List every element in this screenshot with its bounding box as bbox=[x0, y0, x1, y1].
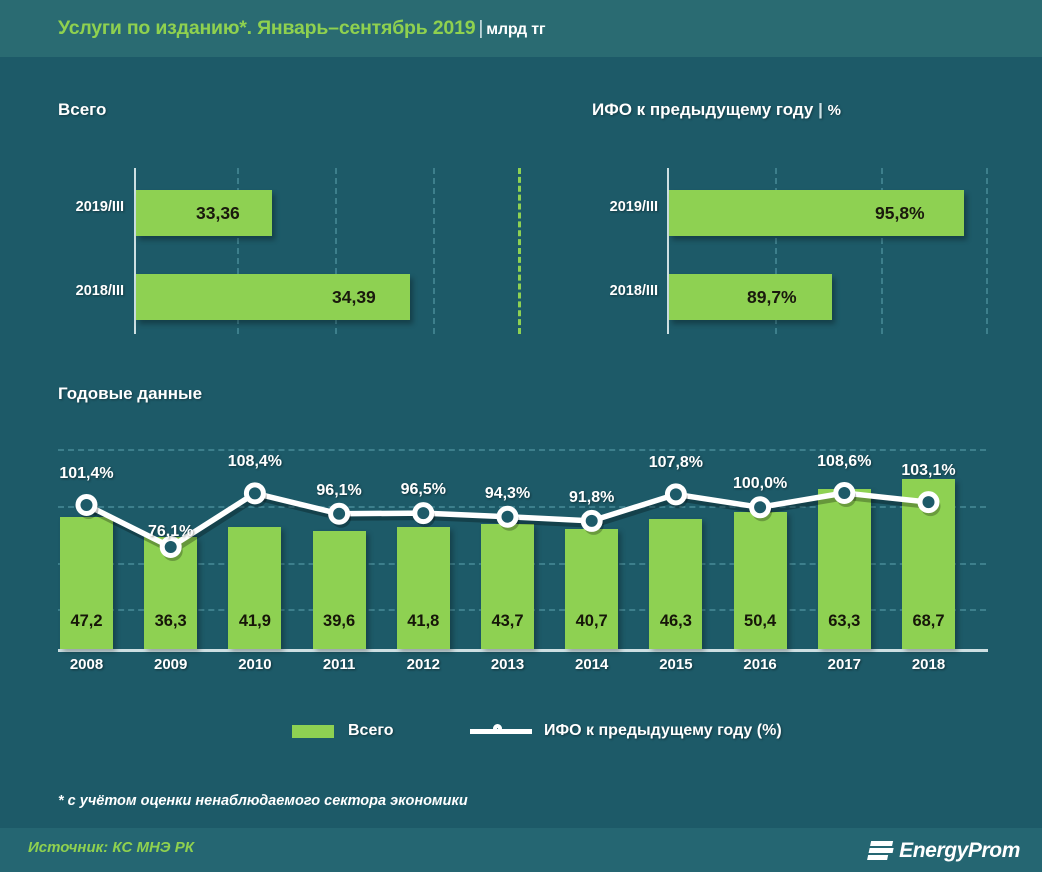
panel-title-annual: Годовые данные bbox=[58, 384, 202, 404]
source-text: Источник: КС МНЭ РК bbox=[28, 839, 194, 856]
annual-year-label-2016: 2016 bbox=[718, 656, 802, 673]
panel-title-ifo-text: ИФО к предыдущему году bbox=[592, 100, 813, 119]
legend-item-line[interactable]: ИФО к предыдущему году (%) bbox=[470, 718, 782, 744]
annual-bar-2014 bbox=[565, 529, 618, 649]
legend-marker-icon bbox=[493, 724, 502, 733]
annual-year-label-2015: 2015 bbox=[634, 656, 718, 673]
annual-year-label-2008: 2008 bbox=[45, 656, 129, 673]
annual-bar-value-2016: 50,4 bbox=[720, 612, 800, 631]
ifo-bar-value-2019: 95,8% bbox=[875, 190, 925, 236]
annual-line-value-2008: 101,4% bbox=[35, 465, 139, 483]
annual-bar-value-2018: 68,7 bbox=[889, 612, 969, 631]
annual-line-value-2015: 107,8% bbox=[624, 454, 728, 472]
annual-line-value-2018: 103,1% bbox=[877, 462, 981, 480]
total-gridline-3 bbox=[433, 168, 435, 334]
total-category-2019: 2019/III bbox=[44, 199, 124, 215]
annual-year-label-2014: 2014 bbox=[550, 656, 634, 673]
annual-line-value-2010: 108,4% bbox=[203, 453, 307, 471]
annual-line-value-2016: 100,0% bbox=[708, 475, 812, 493]
panel-title-total: Всего bbox=[58, 100, 106, 120]
ifo-bar-value-2018: 89,7% bbox=[747, 274, 797, 320]
annual-bar-value-2011: 39,6 bbox=[299, 612, 379, 631]
total-category-2018: 2018/III bbox=[44, 283, 124, 299]
annual-line-value-2009: 76,1% bbox=[119, 523, 223, 541]
infographic-page: Услуги по изданию*. Январь–сентябрь 2019… bbox=[0, 0, 1042, 872]
annual-bar-value-2009: 36,3 bbox=[131, 612, 211, 631]
legend-label-bar: Всего bbox=[348, 722, 394, 739]
panel-title-ifo-separator: | bbox=[818, 100, 823, 119]
energyprom-logo-text: EnergyProm bbox=[899, 839, 1020, 863]
ifo-category-2018: 2018/III bbox=[578, 283, 658, 299]
page-title: Услуги по изданию*. Январь–сентябрь 2019… bbox=[58, 17, 545, 40]
ifo-category-2019: 2019/III bbox=[578, 199, 658, 215]
legend-item-bar[interactable]: Всего bbox=[292, 718, 394, 744]
annual-bar-value-2015: 46,3 bbox=[636, 612, 716, 631]
annual-year-label-2012: 2012 bbox=[381, 656, 465, 673]
annual-bar-value-2012: 41,8 bbox=[383, 612, 463, 631]
annual-year-label-2010: 2010 bbox=[213, 656, 297, 673]
annual-gridline-1 bbox=[58, 449, 986, 451]
total-bar-value-2018: 34,39 bbox=[332, 274, 376, 320]
ifo-gridline-3 bbox=[986, 168, 988, 334]
panel-title-ifo: ИФО к предыдущему году | % bbox=[592, 100, 841, 120]
legend-label-line: ИФО к предыдущему году (%) bbox=[544, 722, 782, 739]
chart-total: 33,36 34,39 bbox=[134, 168, 434, 334]
annual-baseline bbox=[58, 649, 988, 652]
annual-year-label-2011: 2011 bbox=[297, 656, 381, 673]
annual-line-value-2014: 91,8% bbox=[540, 489, 644, 507]
annual-bar-2011 bbox=[313, 531, 366, 649]
annual-bar-value-2010: 41,9 bbox=[215, 612, 295, 631]
annual-bar-value-2008: 47,2 bbox=[47, 612, 127, 631]
energyprom-logo[interactable]: EnergyProm bbox=[869, 836, 1020, 866]
annual-year-label-2013: 2013 bbox=[466, 656, 550, 673]
annual-bar-value-2017: 63,3 bbox=[804, 612, 884, 631]
annual-bar-value-2014: 40,7 bbox=[552, 612, 632, 631]
panel-title-ifo-unit: % bbox=[828, 102, 841, 119]
annual-year-label-2018: 2018 bbox=[887, 656, 971, 673]
legend-swatch-icon bbox=[292, 725, 334, 738]
energyprom-logo-icon bbox=[867, 839, 896, 863]
page-title-unit: млрд тг bbox=[486, 21, 545, 38]
panel-divider bbox=[518, 168, 521, 334]
page-title-main: Услуги по изданию*. Январь–сентябрь 2019 bbox=[58, 17, 475, 39]
annual-bar-2009 bbox=[144, 537, 197, 649]
chart-ifo: 95,8% 89,7% bbox=[667, 168, 987, 334]
annual-bar-value-2013: 43,7 bbox=[468, 612, 548, 631]
footnote: * с учётом оценки ненаблюдаемого сектора… bbox=[58, 793, 468, 809]
annual-year-label-2017: 2017 bbox=[802, 656, 886, 673]
annual-year-label-2009: 2009 bbox=[129, 656, 213, 673]
page-title-separator: | bbox=[475, 17, 486, 39]
total-bar-value-2019: 33,36 bbox=[196, 190, 240, 236]
